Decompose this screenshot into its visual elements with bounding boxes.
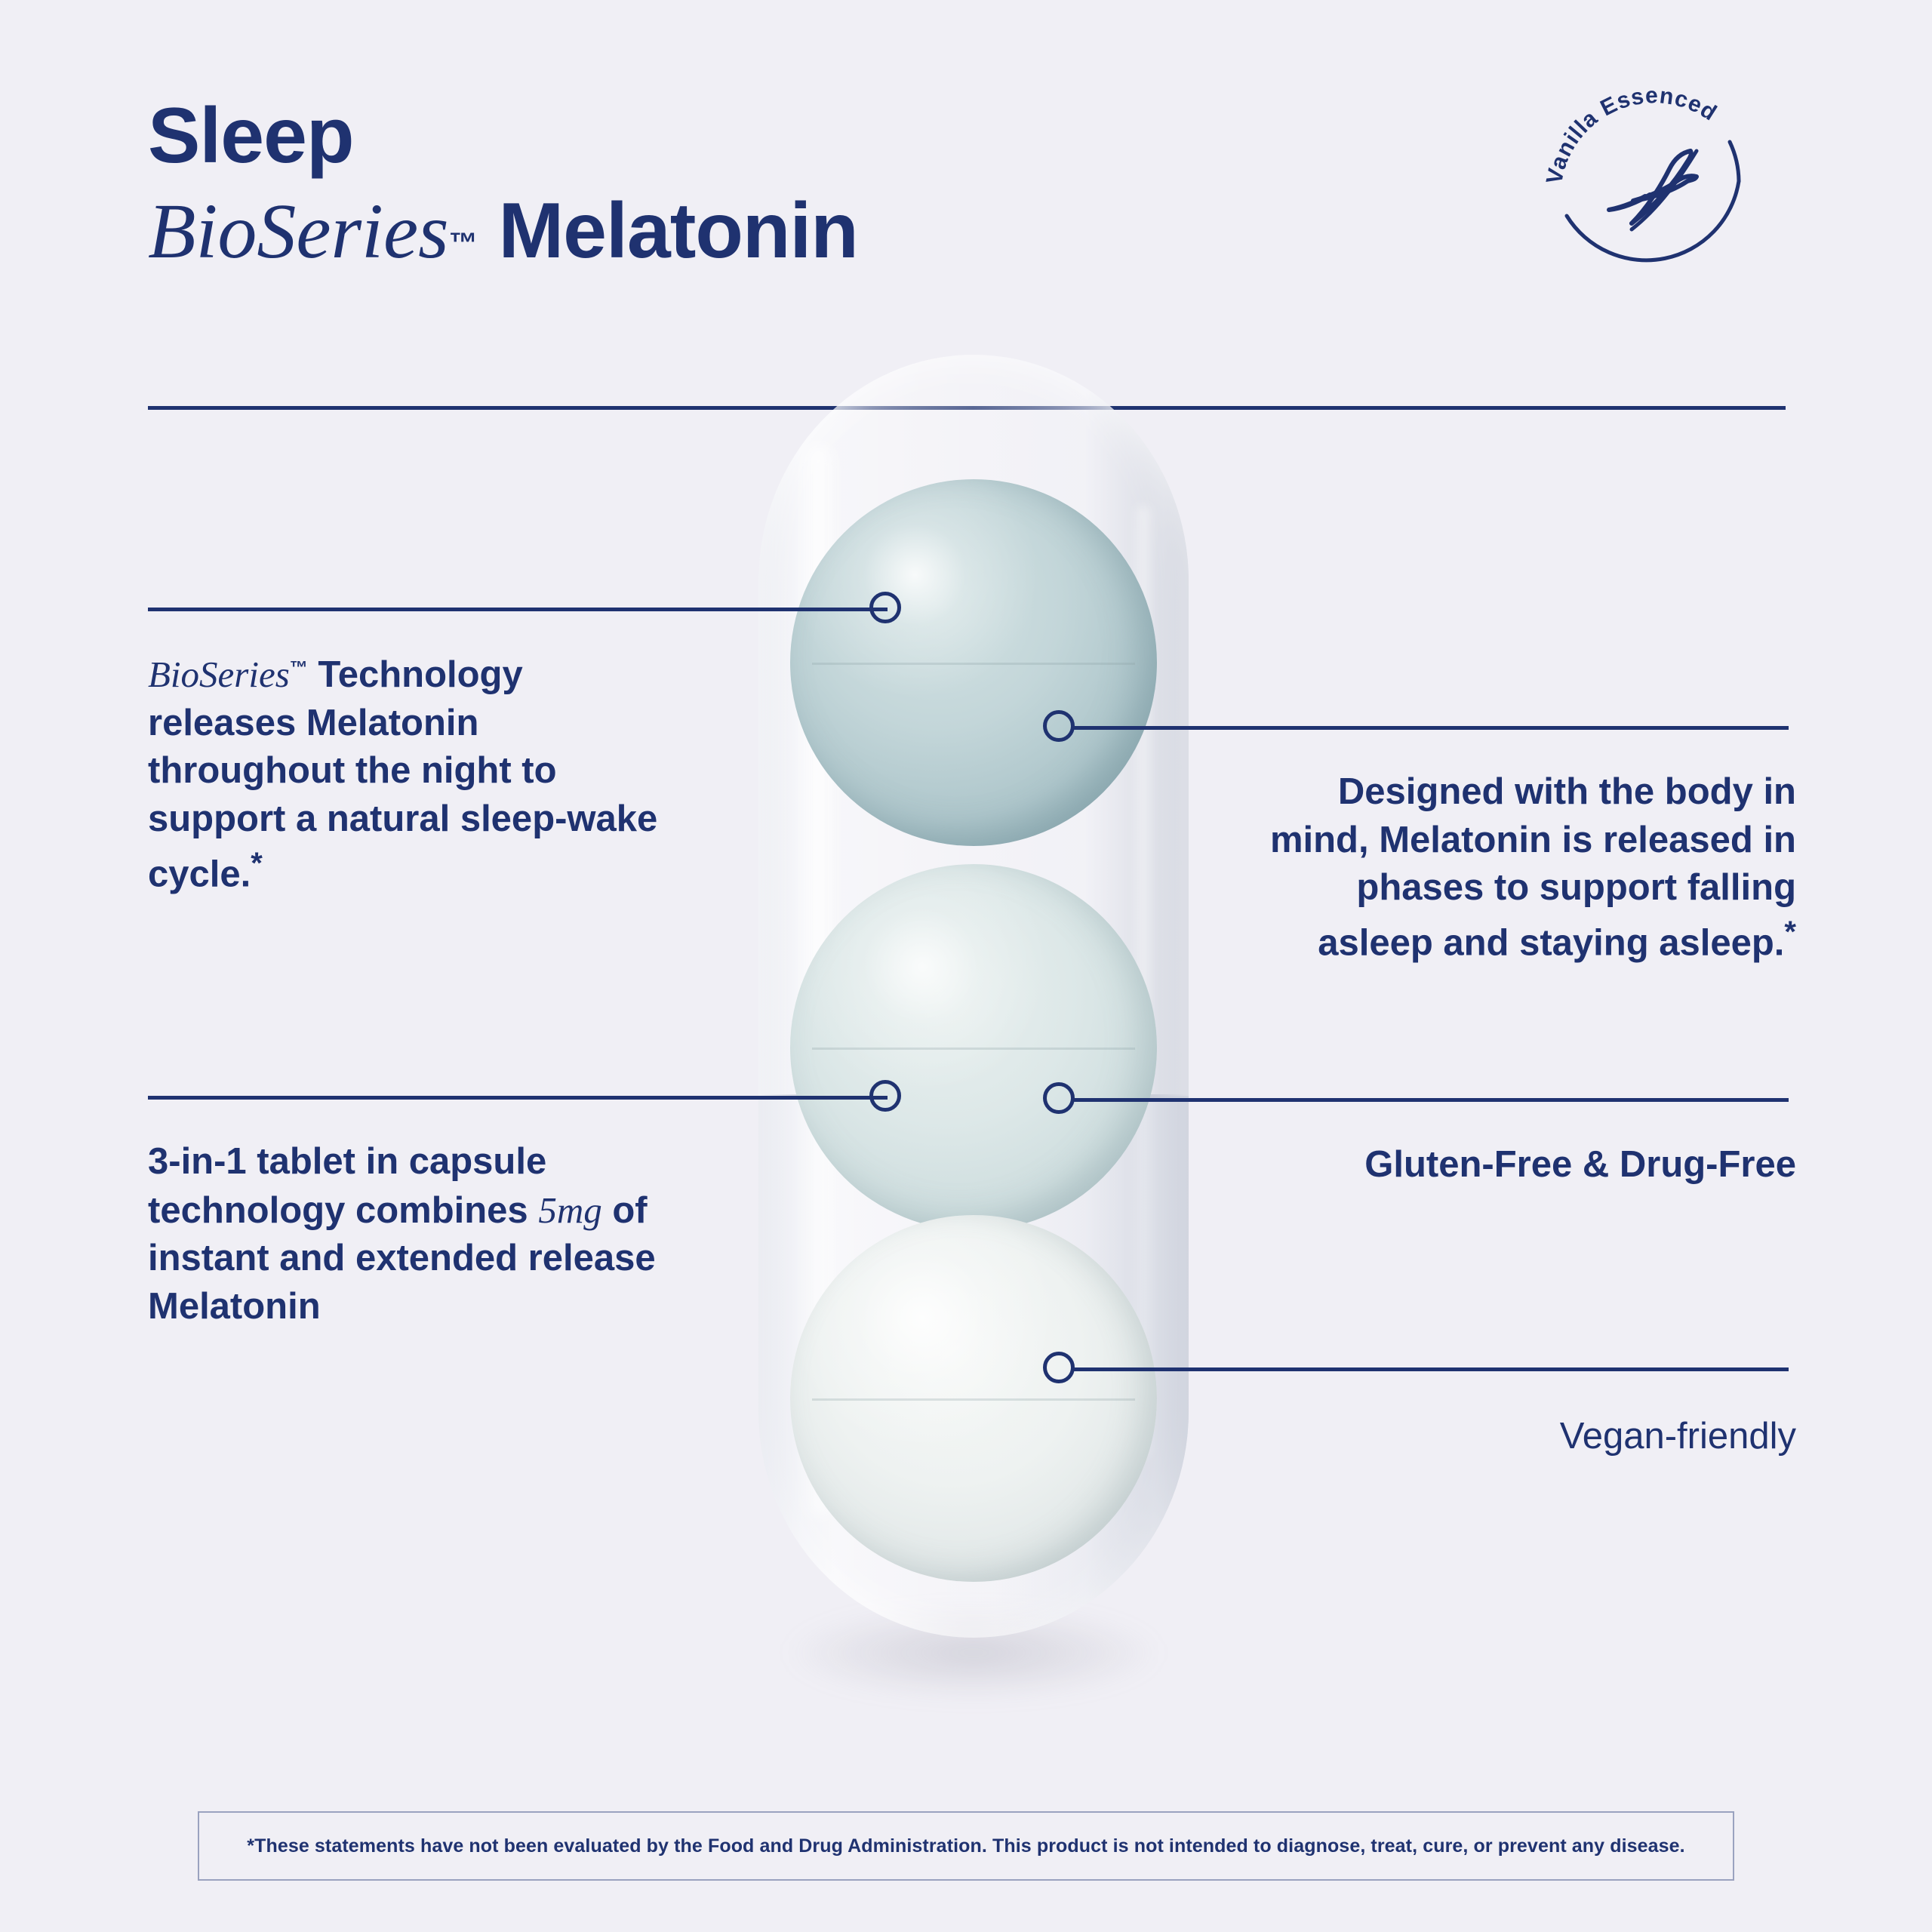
capsule-image [758,355,1189,1706]
trademark-icon: ™ [290,658,308,678]
vanilla-essenced-badge: Vanilla Essenced [1540,68,1766,294]
callout-body-text: Vegan-friendly [1560,1416,1796,1457]
tablet-middle [790,864,1157,1231]
title-sleep: Sleep [148,97,1204,175]
tablet-seam [812,663,1135,665]
badge-label: Vanilla Essenced [1542,83,1721,186]
callout-body-text: Gluten-Free & Drug-Free [1364,1144,1796,1185]
footer-disclaimer-text: *These statements have not been evaluate… [232,1835,1700,1857]
tablet-seam [812,1048,1135,1050]
callout-body-text-part1: 3-in-1 tablet in capsule technology comb… [148,1141,546,1231]
brand-name: BioSeries [148,188,449,275]
callout-text-vegan: Vegan-friendly [1238,1413,1796,1461]
callout-ring-three-in-one [869,1080,901,1112]
svg-text:Vanilla Essenced: Vanilla Essenced [1542,83,1721,186]
callout-text-bioseries: BioSeries™ Technology releases Melatonin… [148,651,676,899]
capsule-shell [758,355,1189,1638]
vanilla-bean-icon [1609,151,1697,229]
callout-ring-gluten-free [1043,1082,1075,1114]
callout-text-three-in-one: 3-in-1 tablet in capsule technology comb… [148,1138,737,1331]
title-product-line: BioSeries™ Melatonin [148,192,1204,271]
callout-brand-italic: BioSeries [148,654,290,695]
footnote-marker: * [1784,915,1796,949]
footer-disclaimer-box: *These statements have not been evaluate… [198,1811,1734,1881]
tablet-bottom [790,1215,1157,1582]
product-infographic: Sleep BioSeries™ Melatonin Vanilla Essen… [0,0,1932,1932]
product-name: Melatonin [478,187,858,275]
callout-line-three-in-one [148,1096,888,1100]
tablet-seam [812,1398,1135,1401]
callout-body-text: Designed with the body in mind, Melatoni… [1270,771,1796,963]
callout-ring-bioseries [869,592,901,623]
footnote-marker: * [251,847,263,880]
dose-value: 5mg [538,1189,601,1231]
trademark-icon: ™ [449,228,478,260]
page-title: Sleep BioSeries™ Melatonin [148,97,1204,271]
tablet-top [790,479,1157,846]
callout-text-gluten-free: Gluten-Free & Drug-Free [1238,1141,1796,1189]
callout-text-designed: Designed with the body in mind, Melatoni… [1238,768,1796,968]
callout-line-vegan [1072,1367,1789,1371]
callout-ring-vegan [1043,1352,1075,1383]
callout-line-gluten-free [1072,1098,1789,1102]
callout-ring-designed [1043,710,1075,742]
callout-line-bioseries [148,608,888,611]
callout-line-designed [1072,726,1789,730]
